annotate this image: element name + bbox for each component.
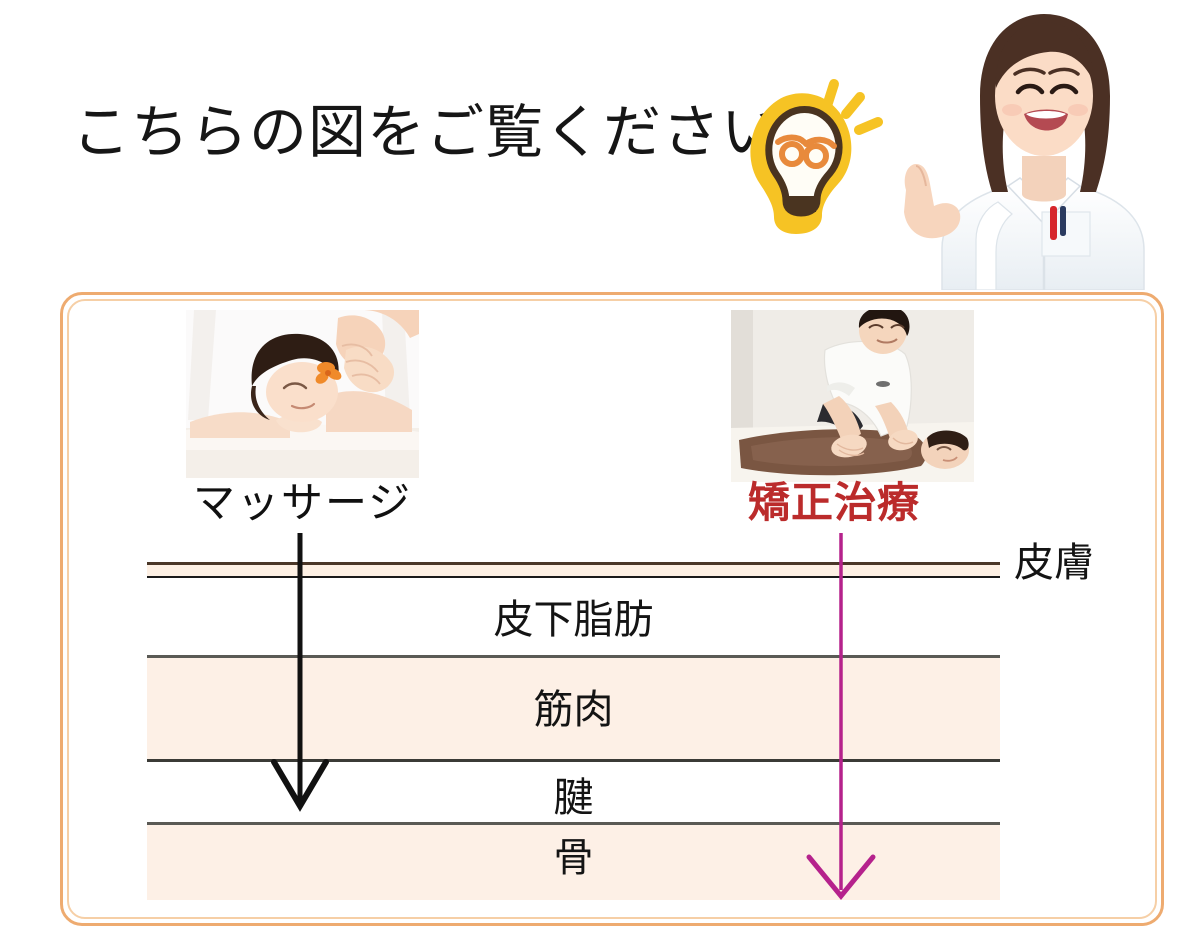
layer-label-skin: 皮膚 xyxy=(1014,543,1094,583)
pointing-nurse-illustration xyxy=(872,0,1200,290)
layer-skin xyxy=(147,562,1000,578)
layer-label-fat: 皮下脂肪 xyxy=(147,600,1000,640)
layer-label-muscle: 筋肉 xyxy=(147,690,1000,730)
layer-label-bone: 骨 xyxy=(147,838,1000,878)
chiropractic-photo xyxy=(731,310,974,482)
lightbulb-icon xyxy=(726,62,896,237)
treatment-label-chiropractic: 矯正治療 xyxy=(748,482,920,524)
tissue-layer-stack: 皮下脂肪 筋肉 腱 骨 xyxy=(147,560,1000,902)
page-title: こちらの図をご覧ください xyxy=(72,103,780,161)
page-root: こちらの図をご覧ください xyxy=(0,0,1200,946)
layer-label-tendon: 腱 xyxy=(147,778,1000,818)
treatment-label-massage: マッサージ xyxy=(193,482,412,524)
massage-photo xyxy=(186,310,419,478)
